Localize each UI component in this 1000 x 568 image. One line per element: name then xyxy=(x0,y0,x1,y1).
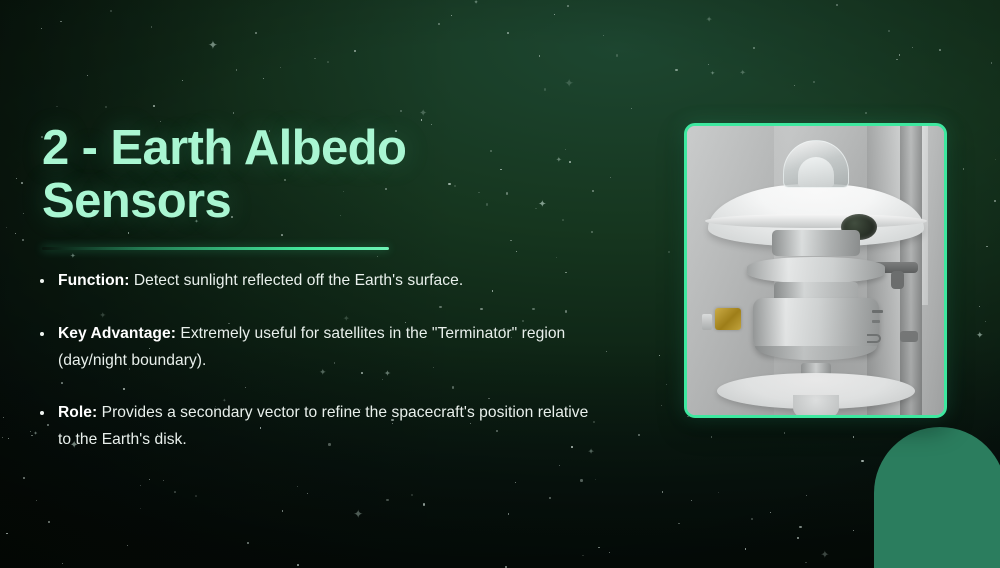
bullet-text: Detect sunlight reflected off the Earth'… xyxy=(129,272,463,289)
star-dot xyxy=(153,105,155,107)
bullet-dot-icon xyxy=(40,332,44,336)
star-dot xyxy=(411,494,413,496)
star-dot xyxy=(805,562,806,563)
star-dot xyxy=(23,477,25,479)
arch-shape-decoration xyxy=(874,427,1000,568)
sensor-brass-connector xyxy=(715,308,741,330)
star-dot xyxy=(127,545,128,546)
star-dot xyxy=(991,62,993,64)
star-dot xyxy=(16,178,17,179)
star-sparkle: ✦ xyxy=(821,550,830,560)
star-dot xyxy=(233,112,235,114)
star-sparkle: ✦ xyxy=(353,509,363,521)
sensor-marking-b xyxy=(872,320,880,323)
star-dot xyxy=(400,110,402,112)
star-dot xyxy=(797,537,798,538)
star-dot xyxy=(853,530,854,531)
star-dot xyxy=(592,190,594,192)
star-dot xyxy=(149,479,150,480)
star-dot xyxy=(606,351,607,352)
star-dot xyxy=(508,513,509,514)
star-dot xyxy=(3,417,4,418)
star-dot xyxy=(708,64,710,66)
star-dot xyxy=(451,15,452,16)
star-dot xyxy=(751,518,753,520)
star-dot xyxy=(87,75,88,76)
star-dot xyxy=(598,547,599,548)
star-dot xyxy=(255,32,257,34)
star-dot xyxy=(21,182,23,184)
star-dot xyxy=(263,78,265,80)
star-dot xyxy=(2,437,3,438)
star-dot xyxy=(580,479,582,481)
star-sparkle: ✦ xyxy=(70,253,76,260)
sensor-glass-dome-inner xyxy=(798,157,834,187)
star-dot xyxy=(327,61,329,63)
star-dot xyxy=(438,23,440,25)
star-dot xyxy=(6,533,8,535)
star-dot xyxy=(836,4,838,6)
star-dot xyxy=(105,106,106,107)
star-dot xyxy=(30,431,31,432)
star-dot xyxy=(559,465,560,466)
star-dot xyxy=(675,69,677,71)
star-dot xyxy=(610,177,611,178)
star-dot xyxy=(247,542,249,544)
star-dot xyxy=(60,21,62,23)
star-dot xyxy=(939,49,941,51)
star-dot xyxy=(163,480,164,481)
star-dot xyxy=(62,563,63,564)
star-dot xyxy=(813,81,815,83)
list-item: Function: Detect sunlight reflected off … xyxy=(36,268,596,295)
star-dot xyxy=(794,85,795,86)
bullet-label: Role: xyxy=(58,404,97,421)
bullet-dot-icon xyxy=(40,411,44,415)
title-block: 2 - Earth Albedo Sensors xyxy=(42,122,562,229)
star-dot xyxy=(110,10,112,12)
star-dot xyxy=(569,161,571,163)
star-dot xyxy=(888,30,890,32)
star-dot xyxy=(507,32,509,34)
star-dot xyxy=(691,500,692,501)
star-dot xyxy=(595,479,596,480)
star-dot xyxy=(986,246,988,248)
star-dot xyxy=(386,499,388,501)
star-dot xyxy=(297,486,298,487)
star-dot xyxy=(307,493,308,494)
star-dot xyxy=(745,548,747,550)
star-dot xyxy=(896,59,898,61)
star-dot xyxy=(128,232,130,234)
star-dot xyxy=(281,234,283,236)
sensor-lower-bulb xyxy=(793,395,839,415)
title-divider xyxy=(42,247,389,250)
star-dot xyxy=(140,485,141,486)
star-sparkle: ✦ xyxy=(208,40,218,52)
sensor-glass-dome xyxy=(783,140,849,188)
star-dot xyxy=(377,256,378,257)
sensor-shield-rim xyxy=(705,214,927,228)
star-dot xyxy=(853,436,854,437)
star-dot xyxy=(979,306,980,307)
star-dot xyxy=(603,35,604,36)
star-dot xyxy=(23,213,24,214)
star-dot xyxy=(659,355,660,356)
star-dot xyxy=(15,233,16,234)
star-dot xyxy=(616,54,618,56)
star-dot xyxy=(662,491,663,492)
instrument-photo-card xyxy=(684,123,947,418)
bullet-list: Function: Detect sunlight reflected off … xyxy=(36,268,596,454)
mounting-clamp-lower xyxy=(900,331,918,342)
star-dot xyxy=(799,526,801,528)
star-dot xyxy=(591,231,593,233)
bullet-label: Function: xyxy=(58,272,129,289)
star-dot xyxy=(22,239,24,241)
star-dot xyxy=(56,106,57,107)
star-dot xyxy=(282,510,284,512)
bullet-dot-icon xyxy=(40,279,44,283)
star-dot xyxy=(718,492,719,493)
star-dot xyxy=(638,434,640,436)
star-dot xyxy=(354,50,356,52)
star-dot xyxy=(516,251,517,252)
star-dot xyxy=(8,438,9,439)
bullet-text: Provides a secondary vector to refine th… xyxy=(58,404,588,448)
star-dot xyxy=(666,384,668,386)
star-dot xyxy=(661,405,662,406)
star-dot xyxy=(539,55,540,56)
star-sparkle: ✦ xyxy=(474,1,479,7)
star-sparkle: ✦ xyxy=(710,72,715,78)
star-dot xyxy=(711,436,713,438)
star-dot xyxy=(753,47,755,49)
star-sparkle: ✦ xyxy=(706,16,713,24)
star-dot xyxy=(515,482,516,483)
star-dot xyxy=(784,432,785,433)
star-dot xyxy=(510,240,512,242)
bullet-label: Key Advantage: xyxy=(58,325,176,342)
star-dot xyxy=(195,495,197,497)
star-dot xyxy=(6,227,7,228)
star-dot xyxy=(556,257,557,258)
star-dot xyxy=(865,112,867,114)
star-dot xyxy=(280,67,281,68)
star-dot xyxy=(174,491,176,493)
star-dot xyxy=(182,80,183,81)
star-dot xyxy=(41,28,42,29)
sensor-mid-ring xyxy=(747,257,885,283)
star-dot xyxy=(140,508,141,509)
star-dot xyxy=(36,500,37,501)
sensor-marking-a xyxy=(872,310,883,313)
star-dot xyxy=(421,119,423,121)
star-dot xyxy=(151,26,153,28)
star-dot xyxy=(297,564,299,566)
star-dot xyxy=(314,58,316,60)
mounting-clamp-upper xyxy=(891,271,904,289)
star-dot xyxy=(562,219,564,221)
sensor-connector-tip xyxy=(702,314,712,330)
star-sparkle: ✦ xyxy=(976,332,984,341)
list-item: Role: Provides a secondary vector to ref… xyxy=(36,400,596,454)
star-dot xyxy=(994,200,996,202)
star-dot xyxy=(912,47,913,48)
star-dot xyxy=(631,108,632,109)
star-dot xyxy=(899,54,901,56)
slide: ✦✦✦✦✦✦✦✦✦✦✦✦✦✦✦✦✦✦✦✦✦✦✦✦✦✦ 2 - Earth Alb… xyxy=(0,0,1000,568)
star-dot xyxy=(544,88,546,90)
star-sparkle: ✦ xyxy=(740,69,746,77)
page-title: 2 - Earth Albedo Sensors xyxy=(42,122,562,229)
sensor-neck-upper xyxy=(772,230,860,256)
star-dot xyxy=(995,159,996,160)
star-dot xyxy=(565,149,566,150)
star-dot xyxy=(678,523,680,525)
star-dot xyxy=(963,168,965,170)
list-item: Key Advantage: Extremely useful for sate… xyxy=(36,321,596,375)
star-dot xyxy=(985,321,986,322)
star-dot xyxy=(236,69,238,71)
star-dot xyxy=(582,555,583,556)
sensor-marking-c xyxy=(867,334,881,343)
albedometer-instrument-photo xyxy=(687,126,944,415)
star-dot xyxy=(668,251,670,253)
star-dot xyxy=(609,552,610,553)
star-sparkle: ✦ xyxy=(419,109,427,119)
star-dot xyxy=(48,521,50,523)
star-dot xyxy=(861,460,863,462)
star-dot xyxy=(423,503,425,505)
star-sparkle: ✦ xyxy=(564,78,574,89)
star-dot xyxy=(549,497,551,499)
star-dot xyxy=(567,5,569,7)
star-dot xyxy=(806,495,807,496)
star-dot xyxy=(554,14,555,15)
star-dot xyxy=(770,512,771,513)
